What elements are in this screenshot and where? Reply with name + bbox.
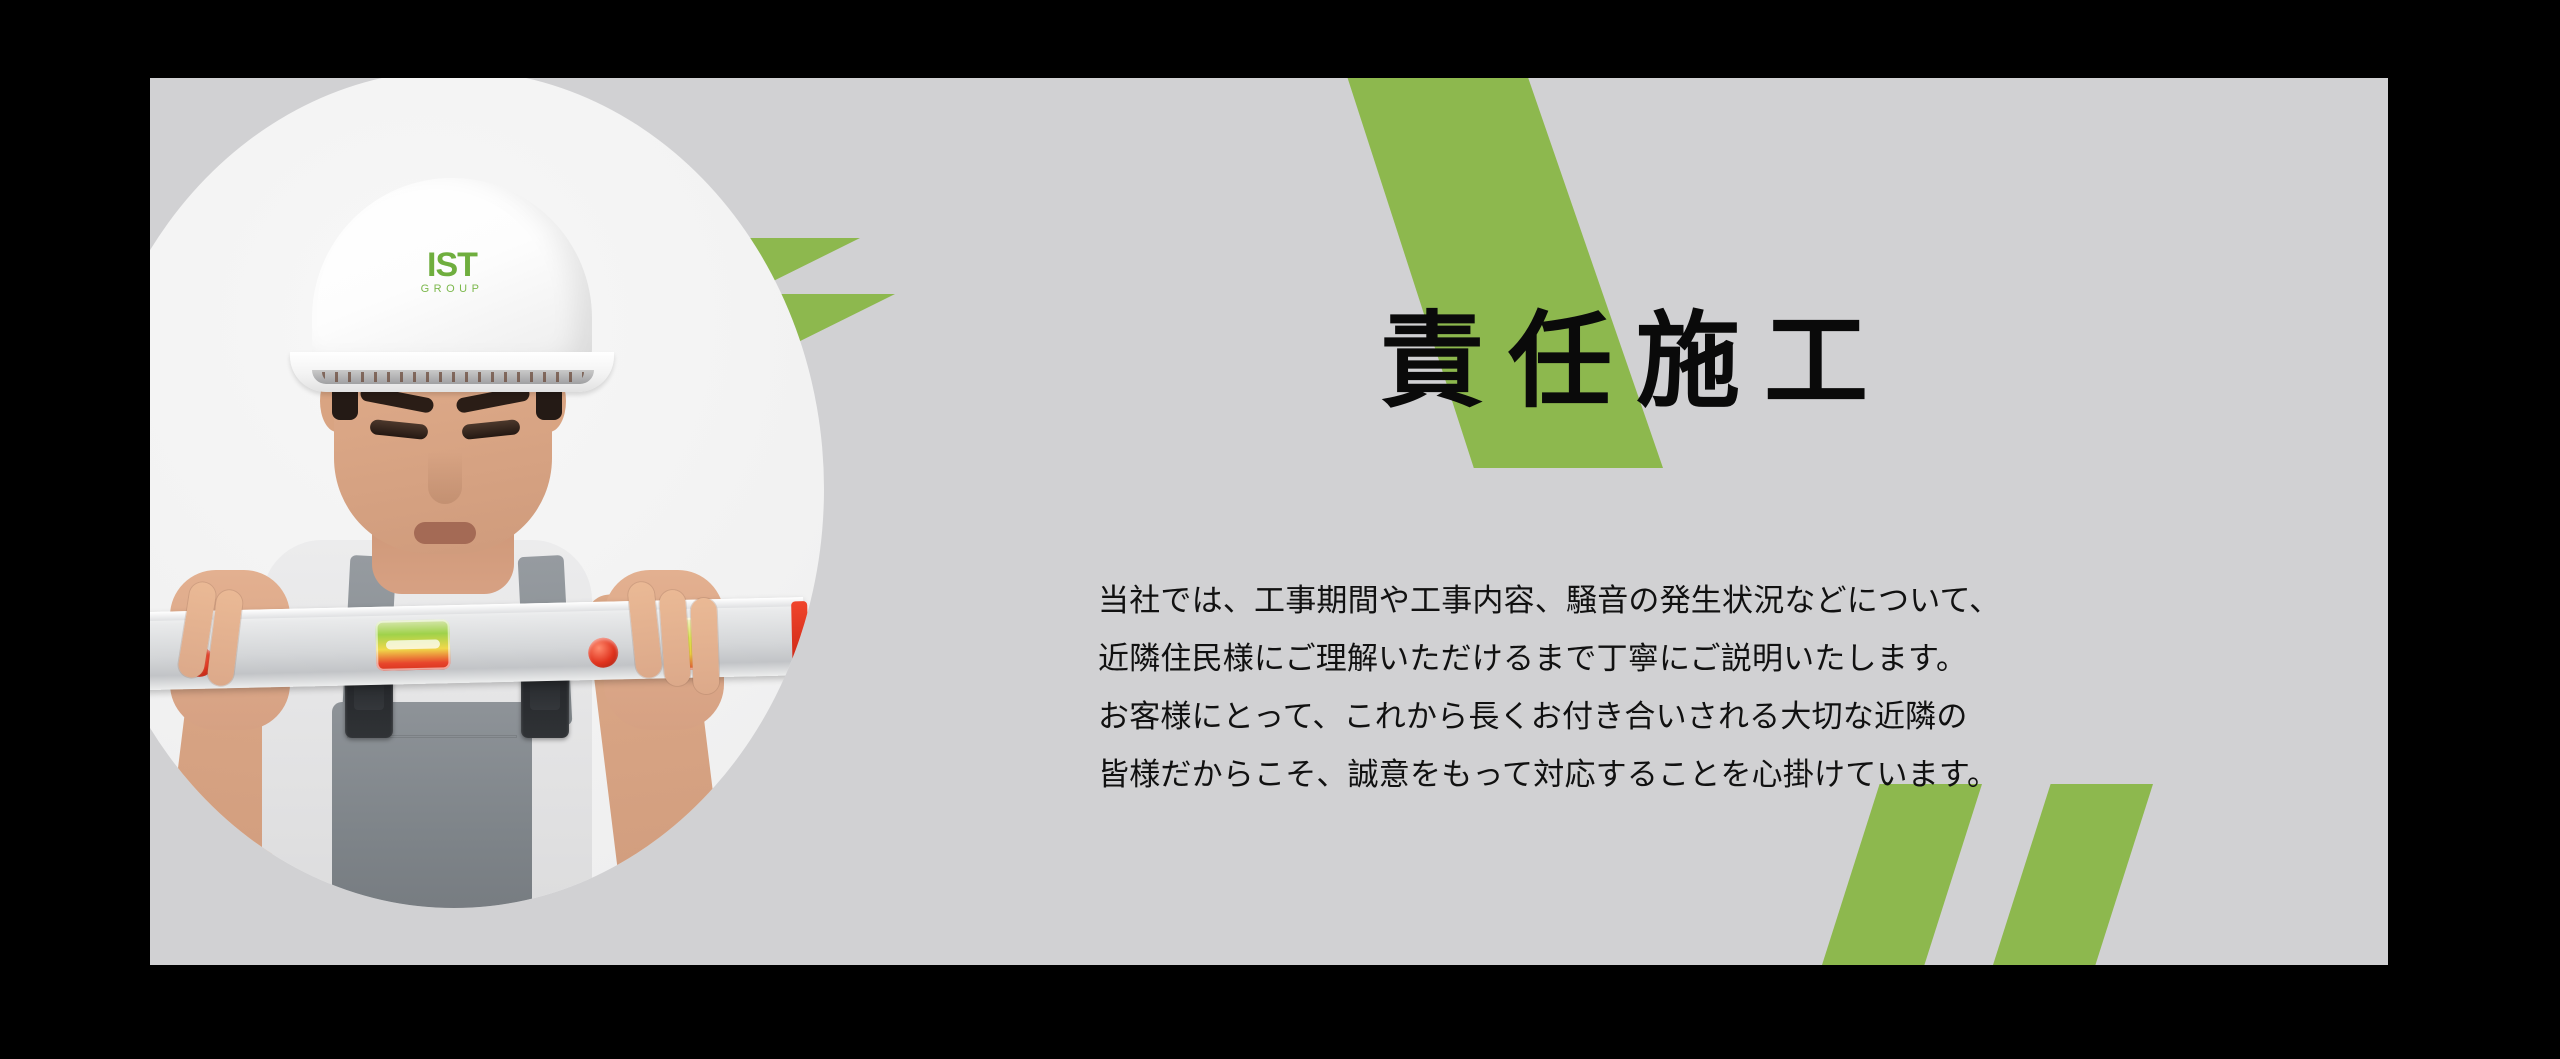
level-eyelet-right	[588, 637, 619, 668]
parallelogram-right	[1993, 784, 2153, 965]
body-line: 当社では、工事期間や工事内容、騒音の発生状況などについて、	[1098, 572, 2298, 630]
screen: IST GROUP	[0, 0, 2560, 1059]
level-end-cap-right	[791, 601, 809, 671]
body-line: お客様にとって、これから長くお付き合いされる大切な近隣の	[1098, 688, 2298, 746]
page-title: 責任施工	[1380, 298, 1892, 428]
body-line: 皆様だからこそ、誠意をもって対応することを心掛けています。	[1098, 746, 2298, 804]
parallelogram-left	[1822, 784, 1982, 965]
body-line: 近隣住民様にご理解いただけるまで丁寧にご説明いたします。	[1098, 630, 2298, 688]
helmet-vents	[322, 372, 584, 382]
level-vial-center	[375, 619, 450, 671]
worker-illustration: IST GROUP	[150, 78, 824, 908]
nose	[428, 452, 462, 504]
feature-card: IST GROUP	[150, 78, 2388, 965]
logo-mark-text: IST	[376, 248, 528, 282]
finger-right-3	[690, 598, 719, 695]
logo-sub-text: GROUP	[376, 282, 528, 296]
body-copy: 当社では、工事期間や工事内容、騒音の発生状況などについて、 近隣住民様にご理解い…	[1098, 572, 2298, 804]
helmet-logo: IST GROUP	[376, 248, 528, 296]
mouth	[414, 522, 476, 544]
worker-photo: IST GROUP	[150, 78, 824, 908]
